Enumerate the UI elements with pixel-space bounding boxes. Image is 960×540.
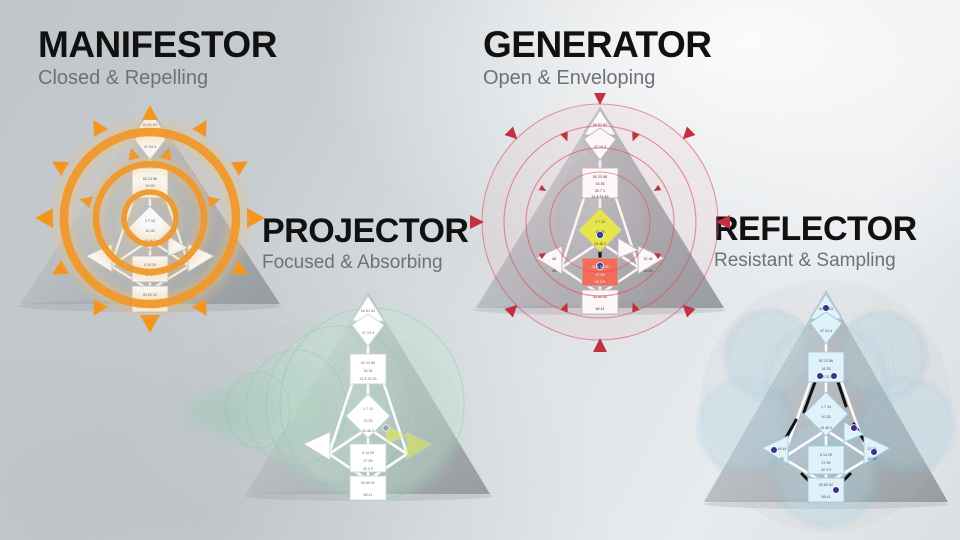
type-tagline-projector: Focused & Absorbing — [262, 252, 468, 273]
svg-text:64 61 63: 64 61 63 — [361, 309, 375, 313]
poster-canvas: MANIFESTOR Closed & Repelling GENERATOR … — [0, 0, 960, 540]
svg-text:31 8 33 45: 31 8 33 45 — [360, 377, 377, 381]
title-reflector: REFLECTOR Resistant & Sampling — [714, 212, 917, 271]
svg-text:15 46 2: 15 46 2 — [362, 429, 374, 433]
svg-text:5 14 29: 5 14 29 — [362, 451, 374, 455]
svg-text:27 59: 27 59 — [364, 459, 373, 463]
svg-text:47 24 4: 47 24 4 — [362, 331, 374, 335]
title-generator: GENERATOR Open & Enveloping — [483, 26, 711, 89]
type-name-reflector: REFLECTOR — [714, 212, 917, 246]
svg-text:49 55: 49 55 — [868, 457, 877, 461]
svg-text:42 3 9: 42 3 9 — [363, 467, 373, 471]
svg-text:1 7 13: 1 7 13 — [363, 407, 373, 411]
svg-text:16 35: 16 35 — [822, 367, 831, 371]
svg-text:15 46 2: 15 46 2 — [820, 426, 832, 430]
svg-text:58 41: 58 41 — [364, 493, 373, 497]
svg-text:62 23 56: 62 23 56 — [819, 359, 833, 363]
diagram-reflector: 64 61 63 47 24 4 62 23 5616 35 31 8 33 4… — [686, 276, 960, 540]
title-manifestor: MANIFESTOR Closed & Repelling — [38, 26, 277, 89]
svg-text:53 60 52: 53 60 52 — [361, 481, 375, 485]
svg-text:22 36: 22 36 — [868, 447, 877, 451]
diagram-projector: 64 61 63 47 24 4 62 23 5616 35 31 8 33 4… — [150, 282, 500, 522]
type-tagline-generator: Open & Enveloping — [483, 67, 711, 89]
svg-text:10 25: 10 25 — [364, 419, 373, 423]
svg-text:31 8 33 45: 31 8 33 45 — [818, 375, 835, 379]
type-name-projector: PROJECTOR — [262, 214, 468, 248]
type-name-manifestor: MANIFESTOR — [38, 26, 277, 63]
svg-text:47 24 4: 47 24 4 — [820, 329, 832, 333]
aura-projector — [160, 308, 464, 500]
svg-text:64 61 63: 64 61 63 — [819, 307, 833, 311]
svg-text:48 44: 48 44 — [778, 447, 787, 451]
svg-text:27 59: 27 59 — [822, 461, 831, 465]
svg-text:62 23 56: 62 23 56 — [361, 361, 375, 365]
type-tagline-manifestor: Closed & Repelling — [38, 67, 277, 89]
svg-text:53 60 52: 53 60 52 — [819, 483, 833, 487]
svg-text:16 35: 16 35 — [364, 369, 373, 373]
svg-text:1 7 13: 1 7 13 — [821, 405, 831, 409]
type-name-generator: GENERATOR — [483, 26, 711, 63]
svg-text:32: 32 — [780, 457, 784, 461]
svg-text:10 25: 10 25 — [822, 415, 831, 419]
type-tagline-reflector: Resistant & Sampling — [714, 250, 917, 271]
svg-text:58 41: 58 41 — [822, 495, 831, 499]
svg-text:42 3 9: 42 3 9 — [821, 468, 831, 472]
title-projector: PROJECTOR Focused & Absorbing — [262, 214, 468, 273]
svg-text:5 14 29: 5 14 29 — [820, 453, 832, 457]
